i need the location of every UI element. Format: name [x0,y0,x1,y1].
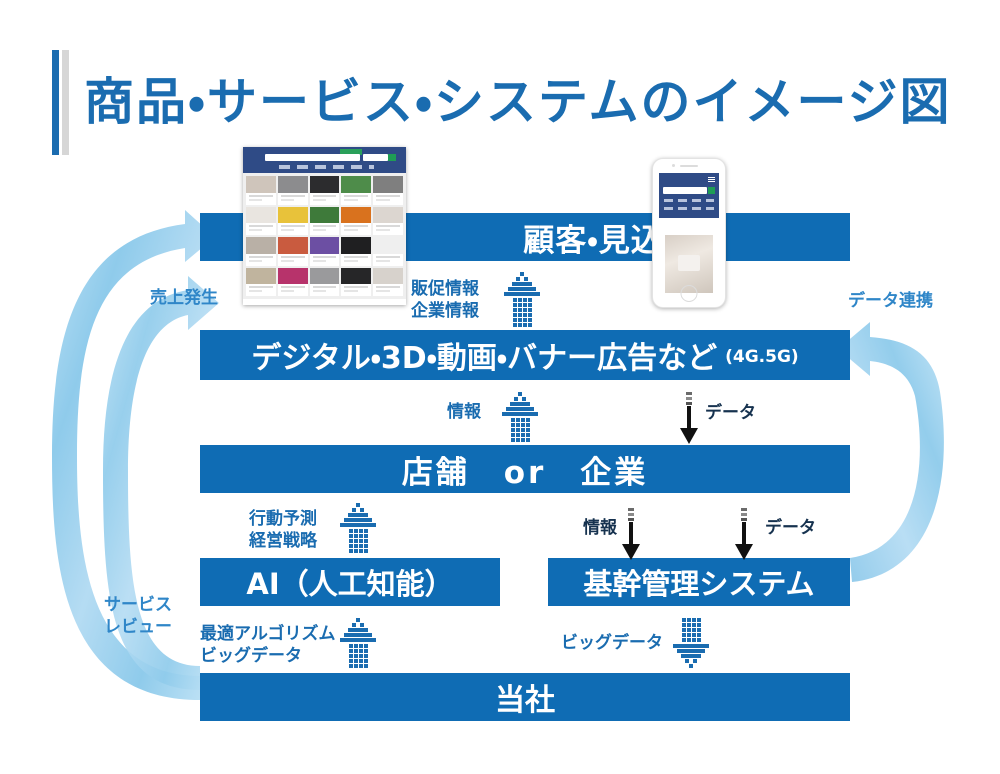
product-card [310,176,340,205]
phone-app-header [659,173,719,218]
dotted-up-arrow-promo-info [500,272,544,330]
website-nav-links [279,165,374,169]
product-card [310,237,340,266]
smartphone-screenshot-mockup [652,158,726,308]
box-store-or-company: 店舗 or 企業 [200,445,850,493]
label-review: レビュー [104,616,172,638]
box-digital-network-note: (4G.5G) [725,347,799,367]
website-navbar [243,147,406,173]
black-down-arrow-data-2 [733,508,755,560]
phone-home-button [681,285,698,302]
label-behavior-prediction: 行動予測 [249,508,317,530]
label-behavior-strategy: 行動予測 経営戦略 [249,508,317,552]
product-card [246,207,276,236]
box-our-company: 当社 [200,673,850,721]
product-card [310,268,340,297]
box-store-label: 店舗 or 企業 [402,447,649,492]
website-screenshot-mockup [243,147,406,305]
product-card [246,176,276,205]
product-card [373,207,403,236]
hamburger-menu-icon [708,177,715,183]
label-data-1: データ [705,402,756,424]
phone-nav-links-row2 [664,207,714,210]
ribbon-arrow-data-link [838,322,944,582]
label-promotion-company-info: 販促情報 企業情報 [411,278,479,322]
product-card [341,237,371,266]
dotted-up-arrow-information-1 [498,392,542,444]
product-card [341,176,371,205]
label-service-review: サービス レビュー [104,594,172,638]
product-card [278,237,308,266]
website-product-grid [243,173,406,299]
box-ai-label: AI（人工知能） [246,561,453,603]
box-ai: AI（人工知能） [200,558,500,606]
label-service: サービス [104,594,172,616]
title-accent-bar-light [62,50,69,155]
website-search-field [265,154,360,161]
label-information-1: 情報 [447,401,481,423]
product-card [246,237,276,266]
product-card [278,176,308,205]
label-data-2: データ [765,517,816,539]
dotted-up-arrow-behavior-strategy [336,503,380,555]
phone-nav-links-row1 [664,199,714,202]
phone-search-field [663,187,707,194]
phone-speaker [680,165,698,167]
label-bigdata-left: ビッグデータ [200,645,336,667]
box-company-label: 当社 [495,675,555,719]
box-digital-label: デジタル・3D・動画・バナー広告など [251,333,717,377]
dotted-up-arrow-algorithm-bigdata [336,618,380,670]
product-card [278,268,308,297]
product-card [246,268,276,297]
product-card [373,237,403,266]
product-card [373,176,403,205]
box-digital-advertising: デジタル・3D・動画・バナー広告など (4G.5G) [200,330,850,380]
phone-search-button [708,187,715,194]
label-data-linkage: データ連携 [848,290,933,312]
label-optimal-algorithm: 最適アルゴリズム [200,623,336,645]
phone-screen [659,173,719,285]
diagram-canvas: 商品・サービス・システムのイメージ図 顧客・見込み客 デジタル・3D・動画・バナ… [0,0,1000,774]
website-category-field [363,154,388,161]
product-card [373,268,403,297]
page-title: 商品・サービス・システムのイメージ図 [84,62,952,134]
label-company-info: 企業情報 [411,300,479,322]
product-card [341,207,371,236]
box-core-system-label: 基幹管理システム [583,561,814,603]
dotted-down-arrow-bigdata [669,618,713,670]
product-card [310,207,340,236]
black-down-arrow-information-2 [620,508,642,560]
box-core-management-system: 基幹管理システム [548,558,850,606]
label-information-2: 情報 [583,517,617,539]
label-sales-generated: 売上発生 [150,287,218,309]
label-bigdata-right: ビッグデータ [561,632,663,654]
website-search-button [388,154,396,161]
label-algorithm-bigdata: 最適アルゴリズム ビッグデータ [200,623,336,667]
phone-camera-icon [672,164,675,167]
product-card [278,207,308,236]
product-card [341,268,371,297]
label-management-strategy: 経営戦略 [249,530,317,552]
label-promotion-info: 販促情報 [411,278,479,300]
black-down-arrow-data-1 [678,392,700,444]
title-accent-bar-dark [52,50,59,155]
